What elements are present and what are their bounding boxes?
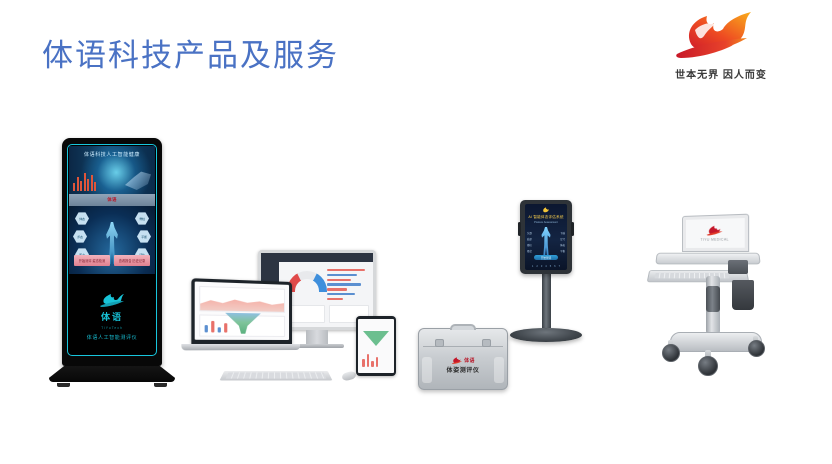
product-commercial-kiosk: 体语科技人工智能健康 体语 体态 — [62, 138, 188, 387]
slide-root: 体语科技产品及服务 世本无界 因人而变 — [0, 0, 832, 464]
kiosk-brand-sub: 体语人工智能测评仪 — [87, 334, 137, 341]
tablet-body — [356, 316, 396, 376]
stand-dot-6: 6 — [554, 265, 555, 268]
laptop-funnel-chart — [225, 313, 261, 334]
stand-dot-1: 1 — [532, 265, 533, 268]
kiosk-brand-en: TiYuTech — [101, 326, 123, 330]
logo-tagline: 世本无界 因人而变 — [646, 66, 796, 81]
laptop-chart-card-bottom — [199, 314, 285, 337]
stand-base — [510, 328, 582, 342]
cart-laptop: TIYU MEDICAL — [682, 216, 746, 252]
cart-basket — [732, 280, 754, 310]
monitor-neck — [306, 330, 328, 344]
laptop-screen — [195, 282, 289, 340]
kiosk-hero-banner: 体语科技人工智能健康 — [69, 146, 155, 194]
laptop-mini-bars — [205, 321, 228, 333]
product-portable-device: 体语 体姿测评仪 AI 智能体态评估系统 Posture Assessment — [412, 200, 587, 390]
case-sub-name: 体姿测评仪 — [446, 365, 479, 374]
cart-wheel-3 — [748, 340, 765, 357]
laptop-device — [196, 282, 292, 350]
stand-tag-r2: 足弓 — [560, 237, 565, 241]
kiosk-hero-text: 体语科技人工智能健康 — [84, 151, 140, 158]
kiosk-hex-3[interactable]: 步态 — [73, 230, 87, 243]
kiosk-hex-label-3: 步态 — [77, 235, 83, 239]
dashboard-gauge-chart — [287, 271, 327, 292]
monitor-top-strip — [261, 253, 373, 262]
mouse-device[interactable] — [341, 370, 357, 381]
cart-screen-text: TIYU MEDICAL — [700, 237, 728, 241]
stand-tag-r3: 体态 — [560, 243, 565, 247]
kiosk-hex-1[interactable]: 体态 — [75, 212, 89, 225]
stand-pole — [542, 274, 551, 328]
stand-dot-5: 5 — [550, 265, 551, 268]
tablet-device — [356, 316, 396, 376]
kiosk-hero-hand-graphic — [125, 170, 151, 190]
laptop-base — [181, 344, 300, 350]
kiosk-body: 体语科技人工智能健康 体语 体态 — [62, 138, 162, 366]
stand-tablet-body: AI 智能体态评估系统 Posture Assessment 头颈 肩部 脊柱 … — [520, 200, 572, 274]
kiosk-action-buttons: 开始测评 姿态检测 查看报告 历史记录 — [74, 255, 150, 266]
kiosk-hero-bars — [73, 173, 96, 191]
kiosk-hex-4[interactable]: 平衡 — [137, 230, 151, 243]
stand-screen-flame-icon — [542, 207, 551, 213]
stand-tag-l1: 头颈 — [527, 231, 532, 235]
stand-dot-7: 7 — [559, 265, 560, 268]
keyboard-device[interactable] — [220, 371, 333, 381]
stand-tag-l4: 骨盆 — [527, 249, 532, 253]
product-gallery: 体语科技人工智能健康 体语 体态 — [0, 120, 832, 420]
kiosk-illustration: 体语科技人工智能健康 体语 体态 — [62, 138, 188, 387]
cart-wheel-2 — [698, 356, 718, 376]
stand-screen-tags: 头颈 肩部 脊柱 骨盆 下肢 足弓 体态 平衡 — [527, 230, 565, 254]
laptop-area-chart — [200, 295, 284, 311]
tablet-funnel-graphic — [363, 331, 389, 346]
stand-tag-r4: 平衡 — [560, 249, 565, 253]
portable-stand: AI 智能体态评估系统 Posture Assessment 头颈 肩部 脊柱 … — [507, 200, 585, 342]
kiosk-screen-logo-text: 体语 — [107, 197, 117, 203]
case-label: 体语 体姿测评仪 — [446, 357, 479, 374]
kiosk-screen-body: 体态 脊柱 步态 平衡 肌力 评估 开始测评 姿态检测 查看报告 历史记录 — [69, 206, 155, 274]
stand-dot-3: 3 — [541, 265, 542, 268]
flame-brushstroke-logo-icon — [671, 10, 771, 62]
kiosk-hex-label-4: 平衡 — [141, 235, 147, 239]
stand-tag-r1: 下肢 — [560, 231, 565, 235]
stand-screen-title: AI 智能体态评估系统 — [528, 215, 563, 220]
kiosk-base — [49, 366, 175, 382]
case-latch-left[interactable] — [435, 339, 444, 347]
cart-height-adjust-grip[interactable] — [706, 286, 720, 312]
stand-dot-4: 4 — [545, 265, 546, 268]
case-latch-right[interactable] — [482, 339, 491, 347]
stand-tag-l2: 肩部 — [527, 237, 532, 241]
kiosk-hex-2[interactable]: 脊柱 — [135, 212, 149, 225]
case-flame-icon — [451, 357, 462, 364]
stand-screen-subtitle: Posture Assessment — [534, 221, 558, 224]
tablet-screen — [358, 319, 394, 373]
case-brand-name: 体语 — [464, 357, 475, 364]
laptop-chart-card-top — [199, 286, 285, 313]
kiosk-brand-flame-icon — [99, 293, 125, 307]
kiosk-feet — [49, 382, 175, 387]
kiosk-button-report[interactable]: 查看报告 历史记录 — [114, 255, 150, 266]
stand-screen-start-button[interactable]: 开始测评 — [534, 255, 558, 260]
case-handle — [450, 324, 476, 330]
cart-accessory-holder — [728, 260, 748, 274]
portable-case: 体语 体姿测评仪 — [418, 328, 508, 390]
laptop-lid — [191, 278, 292, 344]
dashboard-bar-chart — [327, 269, 369, 302]
stand-screen-dots: 1 2 3 4 5 6 7 — [525, 265, 567, 268]
kiosk-brand-panel: 体语 TiYuTech 体语人工智能测评仪 — [69, 284, 155, 350]
cart-screen-flame-icon — [706, 225, 723, 236]
stand-tag-l3: 脊柱 — [527, 243, 532, 247]
kiosk-screen: 体语科技人工智能健康 体语 体态 — [69, 146, 155, 274]
page-title: 体语科技产品及服务 — [42, 30, 339, 75]
kiosk-button-start[interactable]: 开始测评 姿态检测 — [74, 255, 110, 266]
tablet-bar-chart — [362, 354, 378, 367]
stand-tablet-screen: AI 智能体态评估系统 Posture Assessment 头颈 肩部 脊柱 … — [525, 204, 567, 270]
kiosk-screen-logobar: 体语 — [69, 194, 155, 206]
stand-dot-2: 2 — [536, 265, 537, 268]
brand-logo-block: 世本无界 因人而变 — [646, 10, 796, 81]
kiosk-brand-name: 体语 — [101, 310, 123, 323]
kiosk-hex-label-2: 脊柱 — [139, 217, 145, 221]
cart-laptop-lid: TIYU MEDICAL — [682, 214, 749, 252]
cart-wheel-1 — [662, 344, 680, 362]
product-medical-cart: TIYU MEDICAL — [648, 216, 788, 391]
cart-laptop-screen: TIYU MEDICAL — [686, 218, 745, 248]
kiosk-hex-label-1: 体态 — [79, 217, 85, 221]
product-analysis-system — [196, 250, 386, 380]
